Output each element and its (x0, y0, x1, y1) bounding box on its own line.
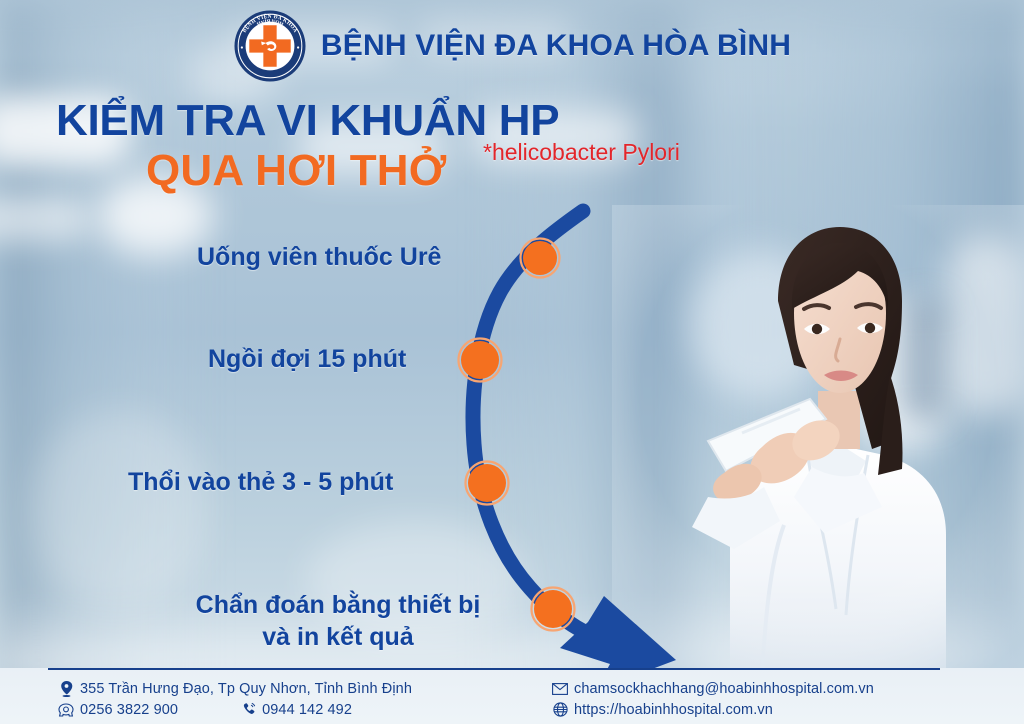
footer-right-column: chamsockhachhang@hoabinhhospital.com.vn … (552, 678, 1012, 720)
footer-address-row: 355 Trần Hưng Đạo, Tp Quy Nhơn, Tỉnh Bìn… (58, 678, 558, 699)
poster-canvas: BỆNH VIỆN ĐA KHOA HÒA BÌNH BỆNH VIỆN ĐA … (0, 0, 1024, 724)
step-label-4-line-2: và in kết quả (168, 622, 508, 654)
footer-phone-row: 0256 3822 900 0944 142 492 (58, 699, 558, 720)
footer-email-row[interactable]: chamsockhachhang@hoabinhhospital.com.vn (552, 678, 1012, 699)
footer-mobile-text: 0944 142 492 (262, 702, 352, 718)
footer-landline-row[interactable]: 0256 3822 900 (58, 699, 178, 720)
footer-contact: 355 Trần Hưng Đạo, Tp Quy Nhơn, Tỉnh Bìn… (0, 676, 1024, 724)
envelope-icon (552, 681, 568, 697)
step-label-3: Thổi vào thẻ 3 - 5 phút (128, 467, 393, 499)
footer-left-column: 355 Trần Hưng Đạo, Tp Quy Nhơn, Tỉnh Bìn… (58, 678, 558, 720)
process-steps: Uống viên thuốc Urê Ngồi đợi 15 phút Thổ… (0, 0, 1024, 724)
step-label-1: Uống viên thuốc Urê (197, 242, 441, 274)
step-label-4: Chẩn đoán bằng thiết bị và in kết quả (168, 590, 508, 653)
footer-mobile-row[interactable]: 0944 142 492 (240, 699, 352, 720)
footer-email-text: chamsockhachhang@hoabinhhospital.com.vn (574, 681, 874, 697)
mobile-phone-icon (240, 702, 256, 718)
location-pin-icon (58, 681, 74, 697)
step-label-2: Ngồi đợi 15 phút (208, 344, 406, 376)
footer-divider (48, 668, 940, 670)
telephone-icon (58, 702, 74, 718)
footer-address-text: 355 Trần Hưng Đạo, Tp Quy Nhơn, Tỉnh Bìn… (80, 681, 412, 697)
step-label-4-line-1: Chẩn đoán bằng thiết bị (168, 590, 508, 622)
globe-icon (552, 702, 568, 718)
footer-website-row[interactable]: https://hoabinhhospital.com.vn (552, 699, 1012, 720)
footer-website-text: https://hoabinhhospital.com.vn (574, 702, 773, 718)
footer-landline-text: 0256 3822 900 (80, 702, 178, 718)
